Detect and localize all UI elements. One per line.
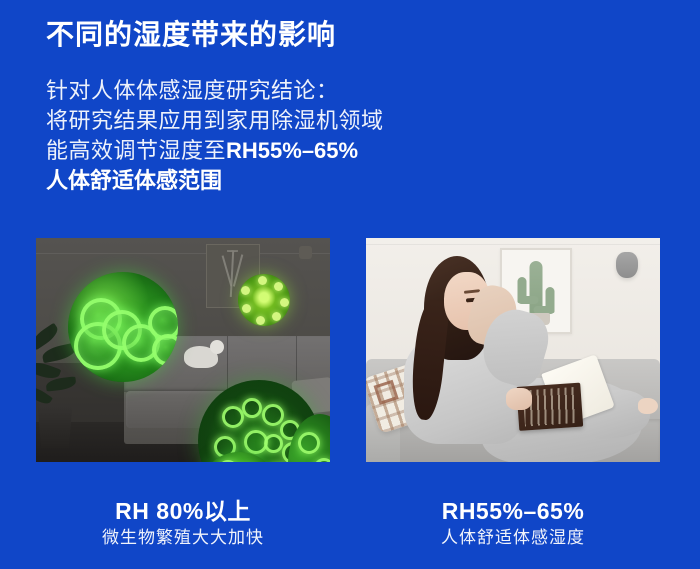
- leaf-icon: [45, 376, 76, 391]
- caption-comfort-humidity: RH55%–65% 人体舒适体感湿度: [366, 497, 660, 551]
- body-copy: 针对人体体感湿度研究结论： 将研究结果应用到家用除湿机领域 能高效调节湿度至RH…: [46, 76, 384, 196]
- caption-title-comfort: RH55%–65%: [366, 497, 660, 525]
- caption-sub-comfort: 人体舒适体感湿度: [366, 525, 660, 551]
- body-line-1: 针对人体体感湿度研究结论：: [46, 76, 384, 106]
- twig-icon: [221, 255, 232, 287]
- dark-room-scene: [36, 238, 330, 462]
- wall-seam: [36, 253, 330, 254]
- twig-icon: [233, 254, 244, 287]
- caption-high-humidity: RH 80%以上 微生物繁殖大大加快: [36, 497, 330, 551]
- photo-high-humidity: [36, 238, 330, 462]
- caption-sub-high: 微生物繁殖大大加快: [36, 525, 330, 551]
- page-title: 不同的湿度带来的影响: [46, 16, 336, 54]
- microbe-spiky-small: [238, 274, 290, 326]
- photo-comfort-humidity: [366, 238, 660, 462]
- body-line-3-highlight: RH55%–65%: [226, 138, 358, 163]
- plant-pot: [36, 406, 74, 448]
- woman-foot: [638, 398, 658, 414]
- body-line-2: 将研究结果应用到家用除湿机领域: [46, 106, 384, 136]
- woman-hand: [506, 388, 532, 410]
- caption-title-high: RH 80%以上: [36, 497, 330, 525]
- body-line-3-prefix: 能高效调节湿度至: [46, 138, 226, 163]
- light-room-scene: [366, 238, 660, 462]
- microbe-cluster-large: [68, 272, 178, 382]
- wall-switch: [299, 246, 312, 259]
- decor-bird: [184, 346, 218, 368]
- twig-icon: [230, 251, 234, 297]
- body-line-3: 能高效调节湿度至RH55%–65%: [46, 136, 384, 166]
- body-line-4: 人体舒适体感范围: [46, 166, 384, 196]
- poster-root: 不同的湿度带来的影响 针对人体体感湿度研究结论： 将研究结果应用到家用除湿机领域…: [0, 0, 700, 569]
- microbe-cell: [152, 334, 178, 366]
- woman-reading: [366, 238, 660, 462]
